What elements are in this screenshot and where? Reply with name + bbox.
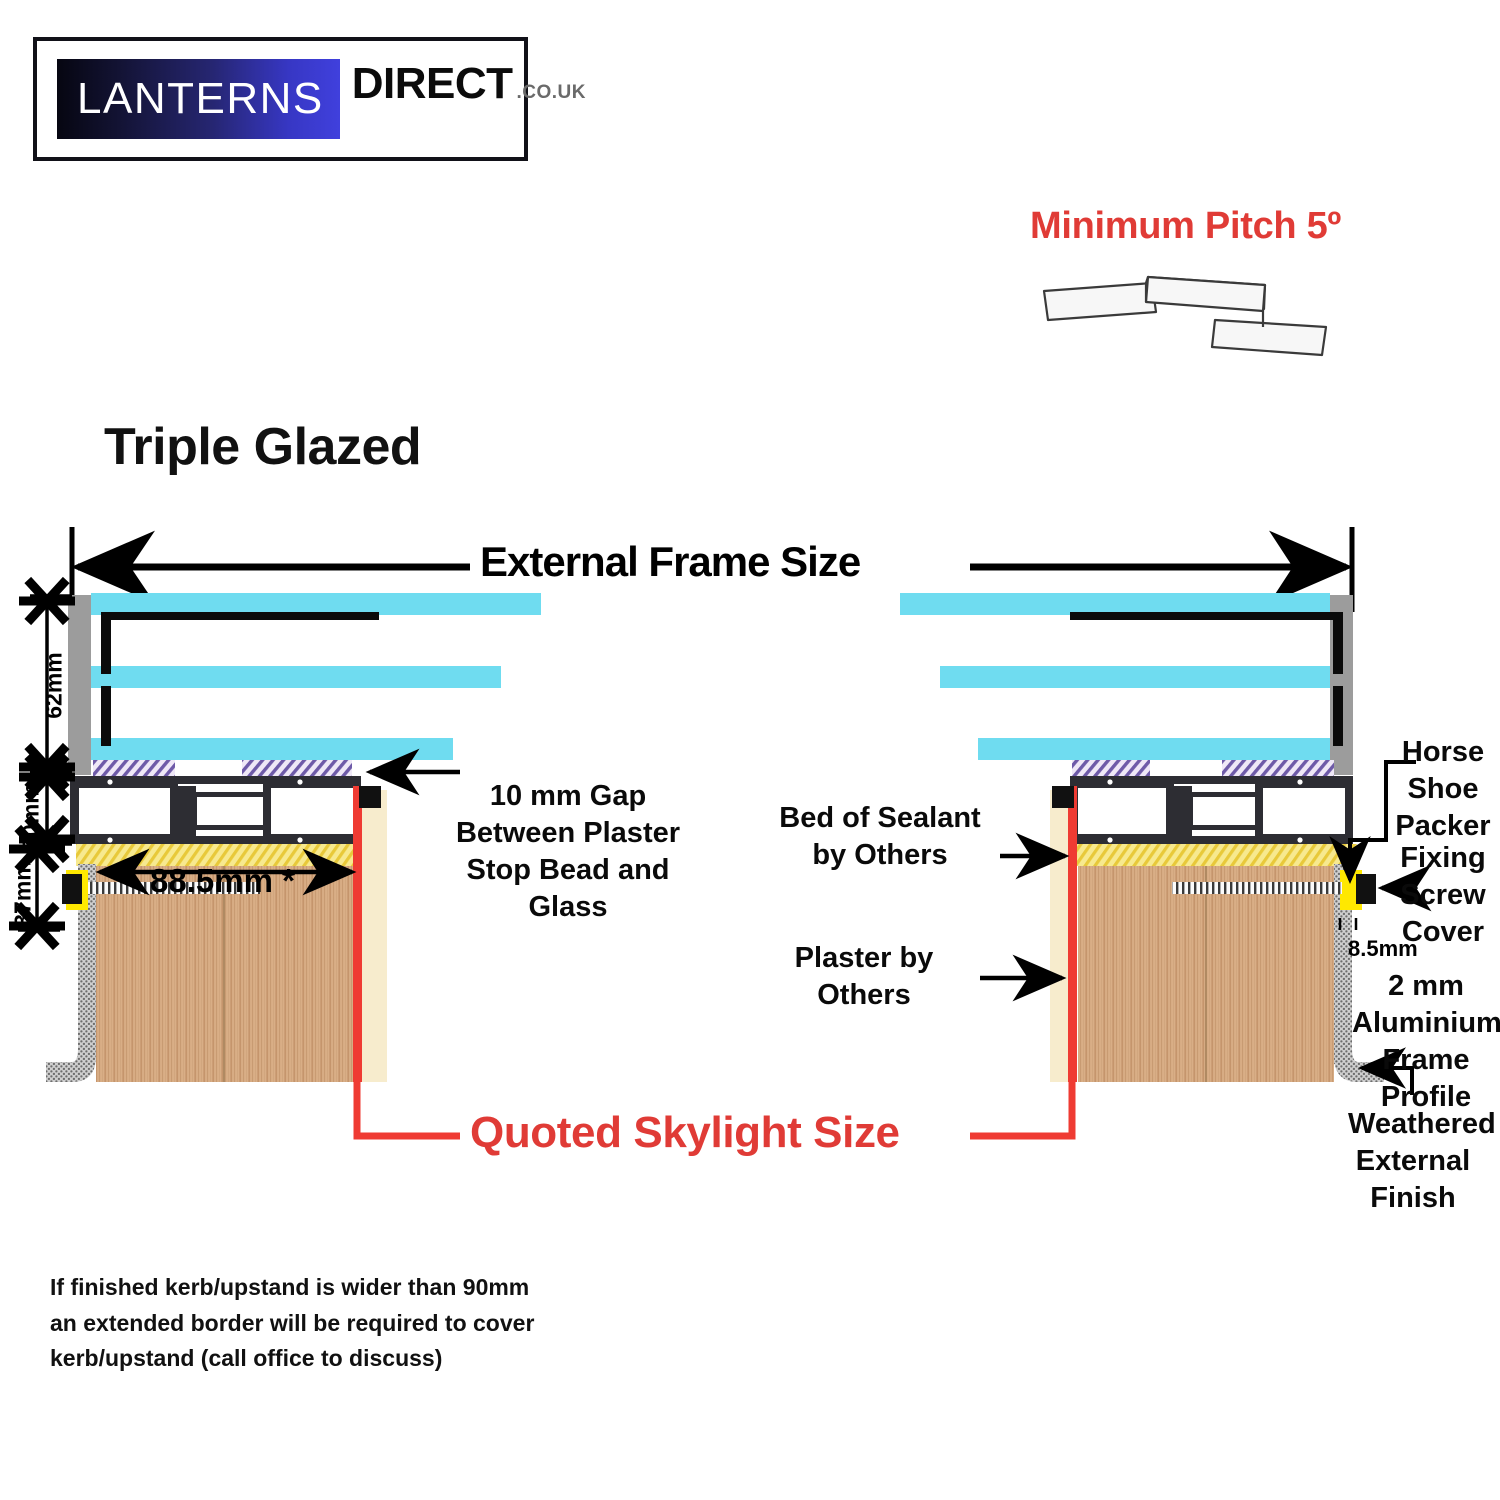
- quoted-size-line-left: [353, 786, 362, 1082]
- aluminium-frame-profile-right: [1070, 776, 1353, 844]
- diagram-page: LANTERNS DIRECT .CO.UK Minimum Pitch 5º …: [0, 0, 1500, 1500]
- external-frame-size-label: External Frame Size: [480, 538, 860, 586]
- aluminium-frame-profile-left: [70, 776, 361, 844]
- glass-spacer-top-left: [101, 612, 379, 620]
- callout-aluminium: 2 mm Aluminium Frame Profile: [1352, 968, 1500, 1116]
- glass-pane-inner-left: [91, 738, 453, 760]
- fixing-screw-right: [1172, 882, 1342, 894]
- callout-weathered: Weathered External Finish: [1348, 1106, 1478, 1217]
- plaster-stop-bead-left: [359, 786, 381, 808]
- dimension-label-88-5mm: 88.5mm *: [150, 862, 295, 900]
- glass-spacer-top-right: [1070, 612, 1342, 620]
- plaster-stop-bead-right: [1052, 786, 1074, 808]
- callout-plaster: Plaster by Others: [760, 940, 968, 1014]
- fixing-screw-cover-left: [62, 874, 82, 904]
- dimension-label-62mm: 62mm: [41, 626, 68, 746]
- quoted-size-line-right: [1068, 786, 1077, 1082]
- glass-pane-middle-right: [940, 666, 1330, 688]
- glass-edge-seal-left: [68, 595, 91, 775]
- sealant-bed-right: [1072, 844, 1357, 866]
- callout-screw-cover: Fixing Screw Cover: [1384, 840, 1500, 951]
- plaster-layer-left: [360, 790, 387, 1082]
- glass-pane-middle-left: [91, 666, 501, 688]
- dimension-label-37mm: 37mm: [10, 844, 37, 944]
- footnote-text: If finished kerb/upstand is wider than 9…: [50, 1270, 534, 1377]
- glass-pane-inner-right: [978, 738, 1330, 760]
- callout-sealant: Bed of Sealant by Others: [760, 800, 1000, 874]
- callout-packer: Horse Shoe Packer: [1384, 734, 1500, 845]
- fixing-screw-cover-right: [1356, 874, 1376, 904]
- callout-gap: 10 mm Gap Between Plaster Stop Bead and …: [448, 778, 688, 926]
- quoted-skylight-size-label: Quoted Skylight Size: [470, 1108, 900, 1158]
